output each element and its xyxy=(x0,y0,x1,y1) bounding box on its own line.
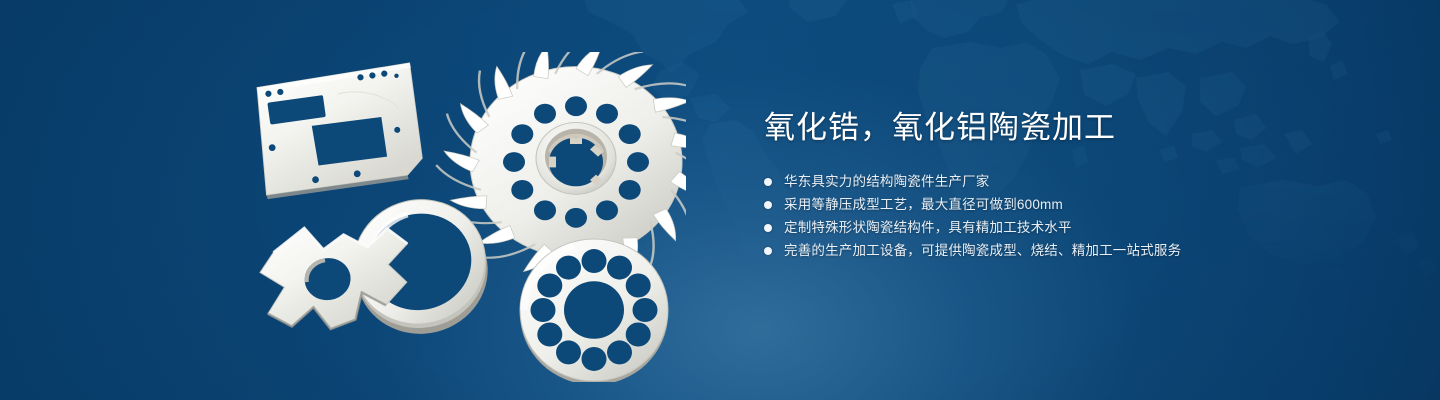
bullet-dot-icon xyxy=(764,224,772,232)
ceramic-plate-part xyxy=(256,62,424,199)
bullet-text: 定制特殊形状陶瓷结构件，具有精加工技术水平 xyxy=(784,216,1072,239)
ceramic-hole-disc-part xyxy=(520,239,668,382)
banner-text-block: 氧化锆，氧化铝陶瓷加工 华东具实力的结构陶瓷件生产厂家 采用等静压成型工艺，最大… xyxy=(764,108,1384,262)
banner-feature-list: 华东具实力的结构陶瓷件生产厂家 采用等静压成型工艺，最大直径可做到600mm 定… xyxy=(764,170,1384,262)
promo-banner: 氧化锆，氧化铝陶瓷加工 华东具实力的结构陶瓷件生产厂家 采用等静压成型工艺，最大… xyxy=(0,0,1440,400)
ceramic-products-image xyxy=(236,52,686,382)
bullet-dot-icon xyxy=(764,201,772,209)
bullet-text: 采用等静压成型工艺，最大直径可做到600mm xyxy=(784,193,1063,216)
list-item: 定制特殊形状陶瓷结构件，具有精加工技术水平 xyxy=(764,216,1384,239)
list-item: 完善的生产加工设备，可提供陶瓷成型、烧结、精加工一站式服务 xyxy=(764,239,1384,262)
bullet-dot-icon xyxy=(764,247,772,255)
bullet-text: 完善的生产加工设备，可提供陶瓷成型、烧结、精加工一站式服务 xyxy=(784,239,1181,262)
list-item: 华东具实力的结构陶瓷件生产厂家 xyxy=(764,170,1384,193)
bullet-text: 华东具实力的结构陶瓷件生产厂家 xyxy=(784,170,990,193)
list-item: 采用等静压成型工艺，最大直径可做到600mm xyxy=(764,193,1384,216)
bullet-dot-icon xyxy=(764,178,772,186)
banner-headline: 氧化锆，氧化铝陶瓷加工 xyxy=(764,108,1384,148)
